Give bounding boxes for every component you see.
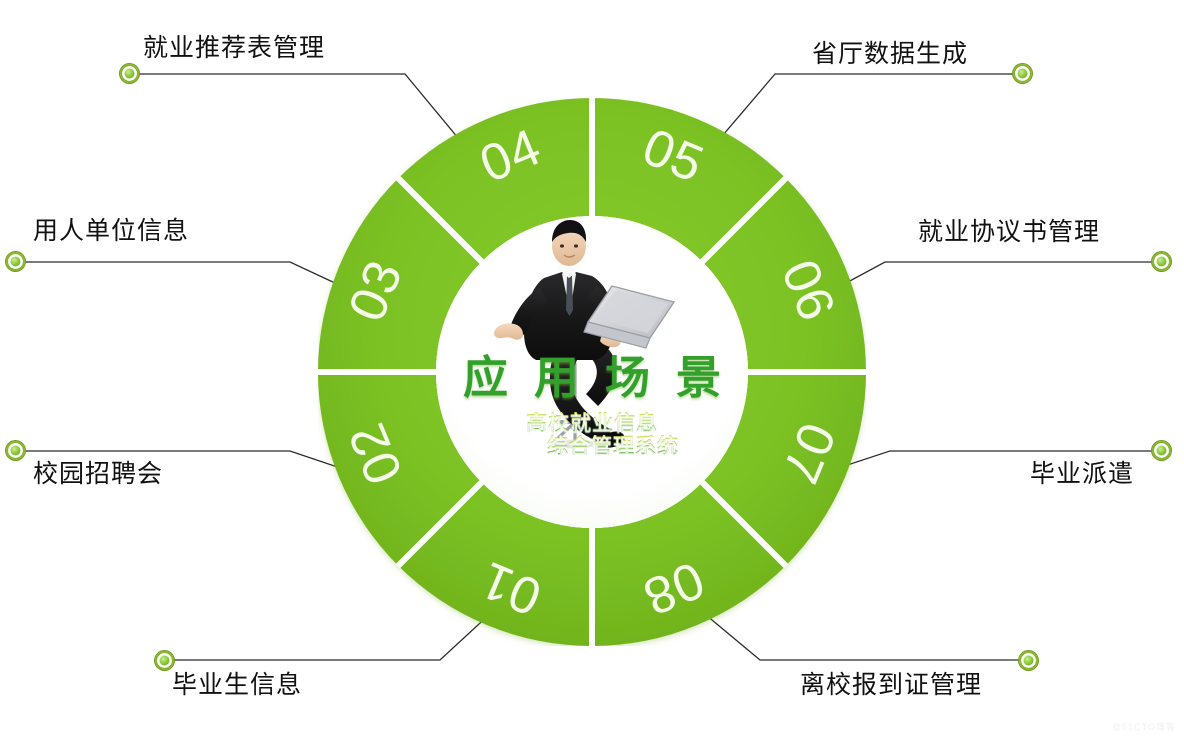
callout-dot-02-icon[interactable] [6, 441, 25, 460]
callout-label-04[interactable]: 就业推荐表管理 [143, 36, 325, 61]
stool-shadow [553, 440, 597, 449]
callout-label-08[interactable]: 离校报到证管理 [800, 673, 982, 698]
eye-left [560, 244, 564, 247]
businessman-with-laptop-icon [436, 216, 748, 528]
callout-dot-08-icon[interactable] [1019, 651, 1038, 670]
center-disc: 应用场景 高校就业信息 综合管理系统 [436, 216, 748, 528]
callout-dot-03-icon[interactable] [6, 252, 25, 271]
callout-dot-07-icon[interactable] [1152, 441, 1171, 460]
callout-label-01[interactable]: 毕业生信息 [172, 673, 302, 698]
leader-line-06 [820, 262, 1162, 297]
watermark: @51CTO博客 [1112, 720, 1176, 733]
application-scenario-ring: 04 05 03 06 02 07 01 08 [318, 98, 866, 646]
callout-dot-05-icon[interactable] [1013, 64, 1032, 83]
necktie-icon [566, 276, 573, 316]
callout-label-02[interactable]: 校园招聘会 [33, 462, 163, 487]
infographic-canvas: 04 05 03 06 02 07 01 08 [0, 0, 1184, 739]
eye-right [574, 244, 578, 247]
callout-label-06[interactable]: 就业协议书管理 [918, 220, 1100, 245]
callout-label-07[interactable]: 毕业派遣 [1030, 462, 1134, 487]
callout-dot-01-icon[interactable] [155, 651, 174, 670]
callout-dot-04-icon[interactable] [120, 64, 139, 83]
leader-line-03 [16, 262, 365, 297]
callout-dot-06-icon[interactable] [1152, 252, 1171, 271]
callout-label-05[interactable]: 省厅数据生成 [812, 42, 968, 67]
callout-label-03[interactable]: 用人单位信息 [33, 219, 189, 244]
